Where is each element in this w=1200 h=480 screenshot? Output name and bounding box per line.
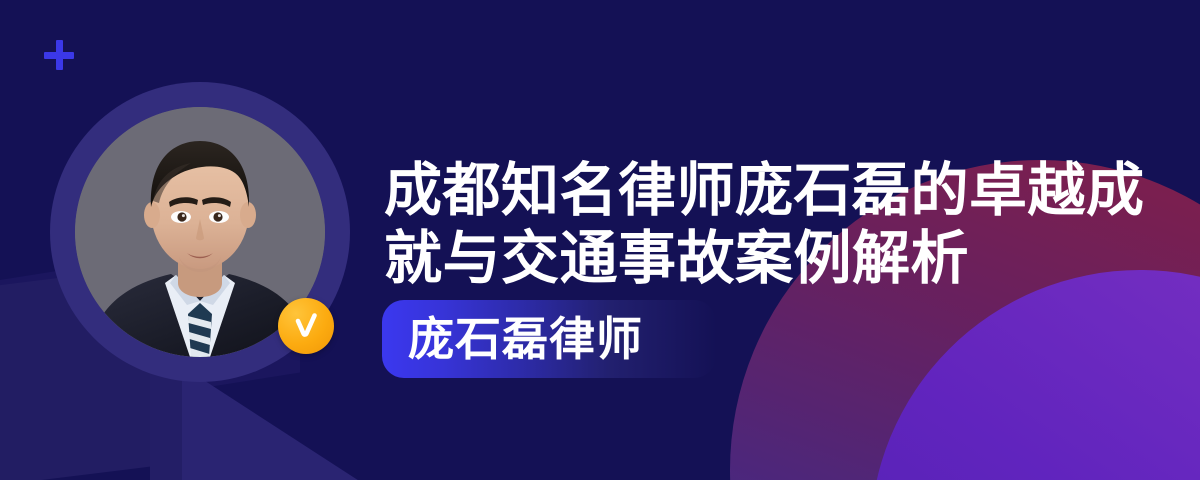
background-polygon-wedge-secondary [182,366,367,480]
avatar [50,82,350,382]
verified-check-icon [278,298,334,354]
background-blob-violet [870,270,1200,480]
lawyer-name-label: 庞石磊律师 [408,316,643,362]
plus-icon [42,38,76,72]
lawyer-name-badge[interactable]: 庞石磊律师 [382,300,716,378]
lawyer-profile-banner: 成都知名律师庞石磊的卓越成就与交通事故案例解析 庞石磊律师 [0,0,1200,480]
page-title: 成都知名律师庞石磊的卓越成就与交通事故案例解析 [384,157,1174,293]
